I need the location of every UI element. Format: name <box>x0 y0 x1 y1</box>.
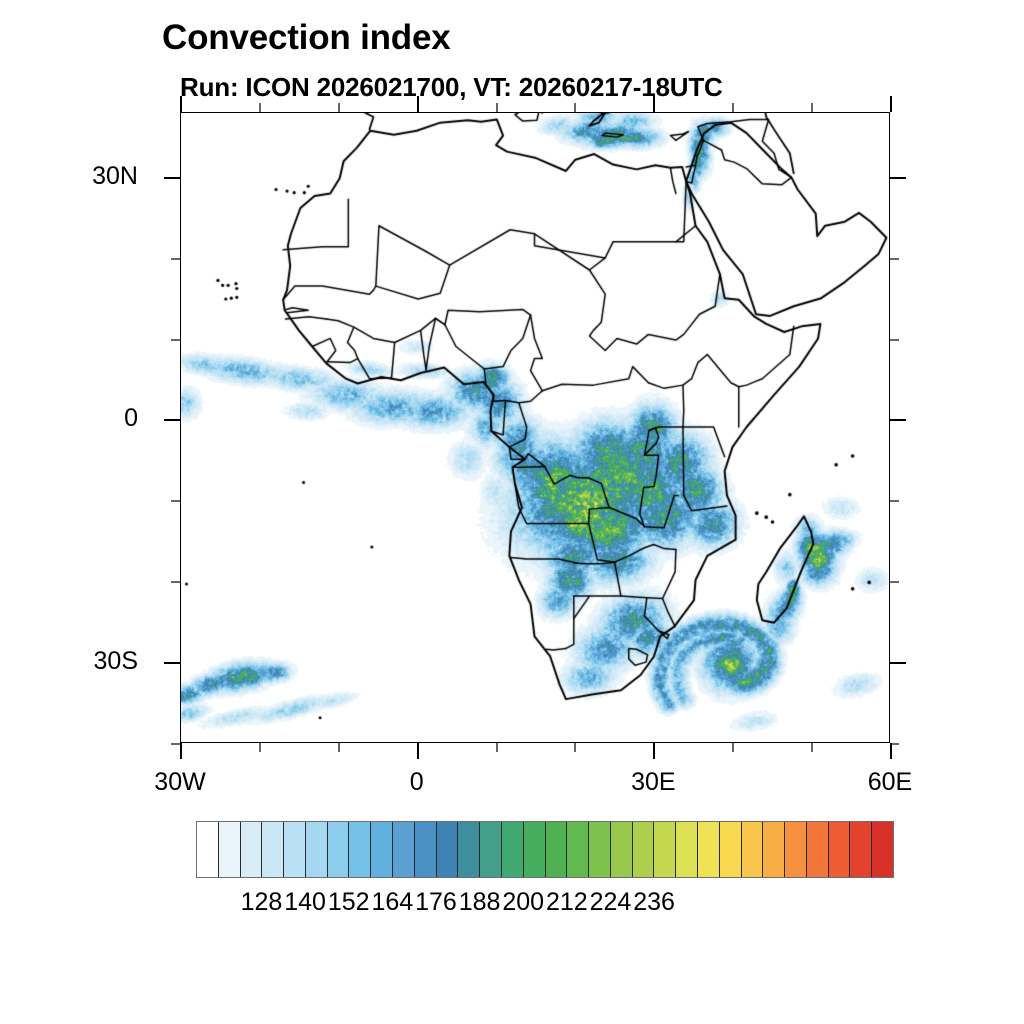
axis-tick <box>574 103 576 112</box>
axis-tick <box>890 662 906 664</box>
y-axis-tick-label: 30N <box>28 162 138 191</box>
colorbar-segment <box>348 822 370 877</box>
colorbar-segment <box>523 822 545 877</box>
convection-index-map <box>181 113 888 741</box>
colorbar-tick-label: 236 <box>609 888 699 917</box>
colorbar-segment <box>545 822 567 877</box>
colorbar-segment <box>849 822 871 877</box>
axis-tick <box>171 743 180 745</box>
y-axis-tick-label: 0 <box>28 404 138 433</box>
axis-tick <box>653 96 655 112</box>
map-plot-area <box>180 112 890 743</box>
axis-tick <box>811 103 813 112</box>
colorbar-segment <box>762 822 784 877</box>
axis-tick <box>890 258 899 260</box>
colorbar <box>196 821 894 878</box>
axis-tick <box>496 743 498 752</box>
colorbar-segment <box>828 822 850 877</box>
axis-tick <box>171 500 180 502</box>
axis-tick <box>890 177 906 179</box>
colorbar-segment <box>457 822 479 877</box>
colorbar-segment <box>784 822 806 877</box>
x-axis-tick-label: 0 <box>357 768 477 797</box>
colorbar-segment <box>436 822 458 877</box>
colorbar-segment <box>305 822 327 877</box>
x-axis-tick-label: 60E <box>830 768 950 797</box>
axis-tick <box>164 662 180 664</box>
x-axis-tick-label: 30E <box>593 768 713 797</box>
axis-tick <box>417 743 419 759</box>
axis-tick <box>890 339 899 341</box>
colorbar-segment <box>370 822 392 877</box>
axis-tick <box>811 743 813 752</box>
y-axis-tick-label: 30S <box>28 647 138 676</box>
colorbar-segment <box>697 822 719 877</box>
page-title: Convection index <box>162 18 451 58</box>
axis-tick <box>259 743 261 752</box>
axis-tick <box>653 743 655 759</box>
x-axis-tick-label: 30W <box>120 768 240 797</box>
colorbar-segment <box>653 822 675 877</box>
colorbar-segment <box>414 822 436 877</box>
colorbar-segment <box>566 822 588 877</box>
axis-tick <box>164 419 180 421</box>
colorbar-segment <box>218 822 240 877</box>
colorbar-segment <box>588 822 610 877</box>
axis-tick <box>259 103 261 112</box>
colorbar-segment <box>741 822 763 877</box>
axis-tick <box>338 103 340 112</box>
colorbar-segment <box>610 822 632 877</box>
axis-tick <box>180 743 182 759</box>
axis-tick <box>890 419 906 421</box>
colorbar-segment <box>501 822 523 877</box>
colorbar-segment <box>392 822 414 877</box>
colorbar-segment <box>806 822 828 877</box>
colorbar-segment <box>719 822 741 877</box>
axis-tick <box>171 258 180 260</box>
axis-tick <box>890 743 892 759</box>
colorbar-segment <box>261 822 283 877</box>
colorbar-segment <box>479 822 501 877</box>
axis-tick <box>890 96 892 112</box>
axis-tick <box>890 500 899 502</box>
colorbar-segment <box>283 822 305 877</box>
colorbar-segment <box>675 822 697 877</box>
axis-tick <box>574 743 576 752</box>
axis-tick <box>417 96 419 112</box>
axis-tick <box>890 581 899 583</box>
colorbar-segment <box>240 822 262 877</box>
axis-tick <box>496 103 498 112</box>
colorbar-segment <box>632 822 654 877</box>
colorbar-segment <box>197 822 218 877</box>
axis-tick <box>732 103 734 112</box>
colorbar-segment <box>871 822 893 877</box>
axis-tick <box>732 743 734 752</box>
run-valid-time-subtitle: Run: ICON 2026021700, VT: 20260217-18UTC <box>180 72 723 103</box>
axis-tick <box>164 177 180 179</box>
axis-tick <box>180 96 182 112</box>
axis-tick <box>338 743 340 752</box>
axis-tick <box>171 581 180 583</box>
colorbar-segment <box>327 822 349 877</box>
axis-tick <box>171 339 180 341</box>
